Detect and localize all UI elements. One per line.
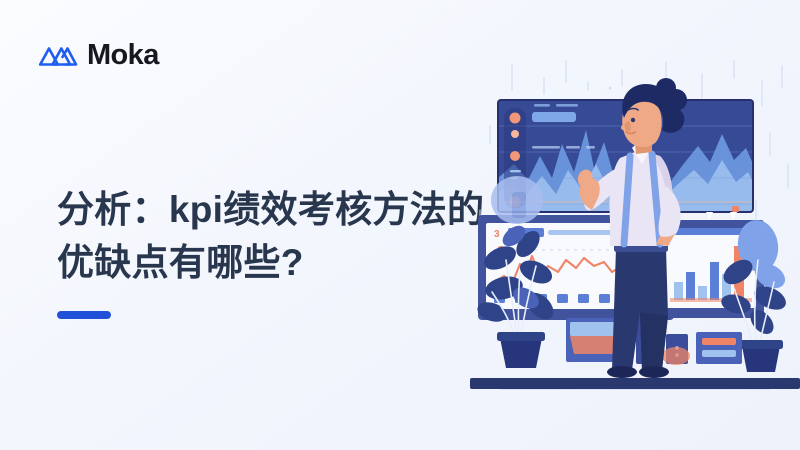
floor-reflection <box>500 389 770 390</box>
accent-underline-bar <box>57 311 111 319</box>
desk-floor-bar <box>470 378 800 389</box>
marker-chip <box>732 206 739 212</box>
svg-text:3: 3 <box>494 229 500 240</box>
hero-illustration: 3 <box>470 60 800 390</box>
brand-logo[interactable]: Moka <box>38 40 159 70</box>
moka-mountain-logo-icon <box>38 40 78 70</box>
cover-canvas: Moka 分析：kpi绩效考核方法的优缺点有哪些? <box>0 0 800 450</box>
page-title: 分析：kpi绩效考核方法的优缺点有哪些? <box>57 184 487 289</box>
screen-markers <box>706 212 737 220</box>
brand-wordmark: Moka <box>87 41 159 70</box>
decor-balloon-shape <box>491 176 543 224</box>
